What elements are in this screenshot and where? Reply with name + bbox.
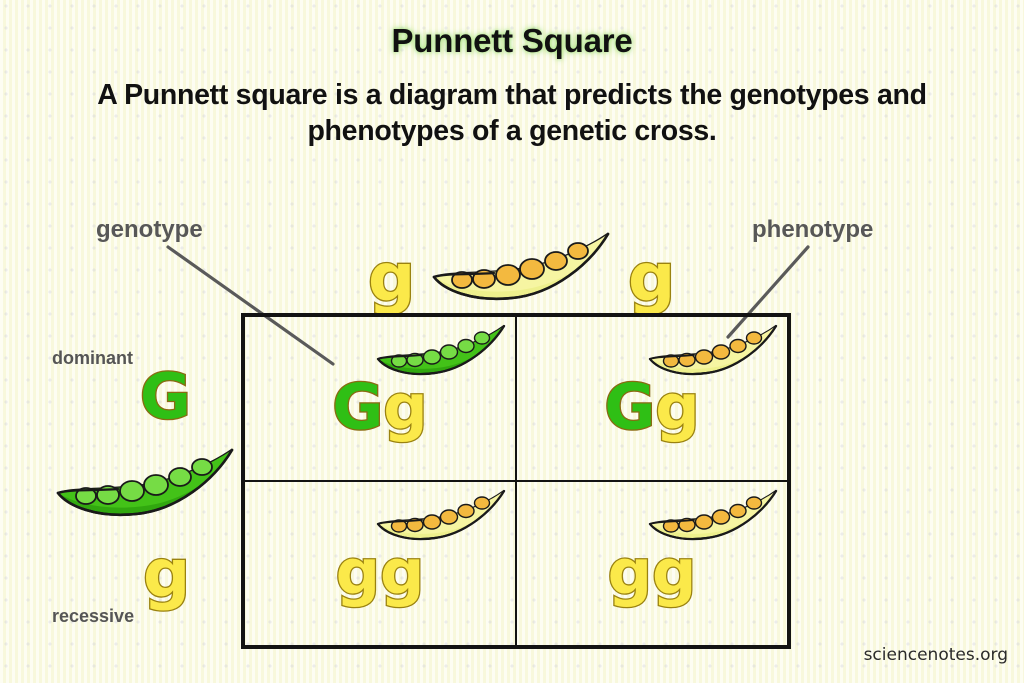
punnett-cell-bottom-left[interactable]: gg <box>244 481 516 646</box>
offspring-genotype-top-left: Gg <box>332 373 427 444</box>
punnett-square-diagram: Punnett Square A Punnett square is a dia… <box>0 0 1024 683</box>
page-subtitle: A Punnett square is a diagram that predi… <box>96 78 928 150</box>
parent-allele-top-1: g <box>368 245 415 311</box>
offspring-genotype-bottom-right: gg <box>608 538 697 609</box>
offspring-genotype-bottom-left: gg <box>336 538 425 609</box>
offspring-pod-green-pea-pod <box>373 321 509 377</box>
punnett-cell-bottom-right[interactable]: gg <box>516 481 788 646</box>
punnett-grid: Gg <box>241 313 791 649</box>
offspring-genotype-top-right: Gg <box>604 373 699 444</box>
parent-allele-top-2: g <box>628 245 675 311</box>
offspring-allele-dominant: g <box>336 536 380 609</box>
genotype-annotation-label: genotype <box>96 216 203 244</box>
recessive-axis-label: recessive <box>52 606 134 627</box>
parent-pod-left-green-pea-pod <box>52 444 238 520</box>
parent-allele-left-1: G <box>140 366 191 428</box>
offspring-allele-dominant: G <box>604 371 655 444</box>
offspring-allele-recessive: g <box>380 536 424 609</box>
punnett-cell-top-left[interactable]: Gg <box>244 316 516 481</box>
offspring-allele-recessive: g <box>655 371 699 444</box>
punnett-cell-top-right[interactable]: Gg <box>516 316 788 481</box>
page-title: Punnett Square <box>0 22 1024 60</box>
offspring-allele-recessive: g <box>652 536 696 609</box>
phenotype-annotation-label: phenotype <box>752 216 873 244</box>
parent-allele-left-2: g <box>143 541 190 607</box>
parent-pod-top-yellow-pea-pod <box>428 228 614 304</box>
offspring-allele-dominant: G <box>332 371 383 444</box>
site-watermark: sciencenotes.org <box>864 645 1008 665</box>
offspring-allele-recessive: g <box>383 371 427 444</box>
offspring-pod-yellow-pea-pod <box>645 486 781 542</box>
offspring-pod-yellow-pea-pod <box>645 321 781 377</box>
offspring-pod-yellow-pea-pod <box>373 486 509 542</box>
offspring-allele-dominant: g <box>608 536 652 609</box>
dominant-axis-label: dominant <box>52 348 133 369</box>
